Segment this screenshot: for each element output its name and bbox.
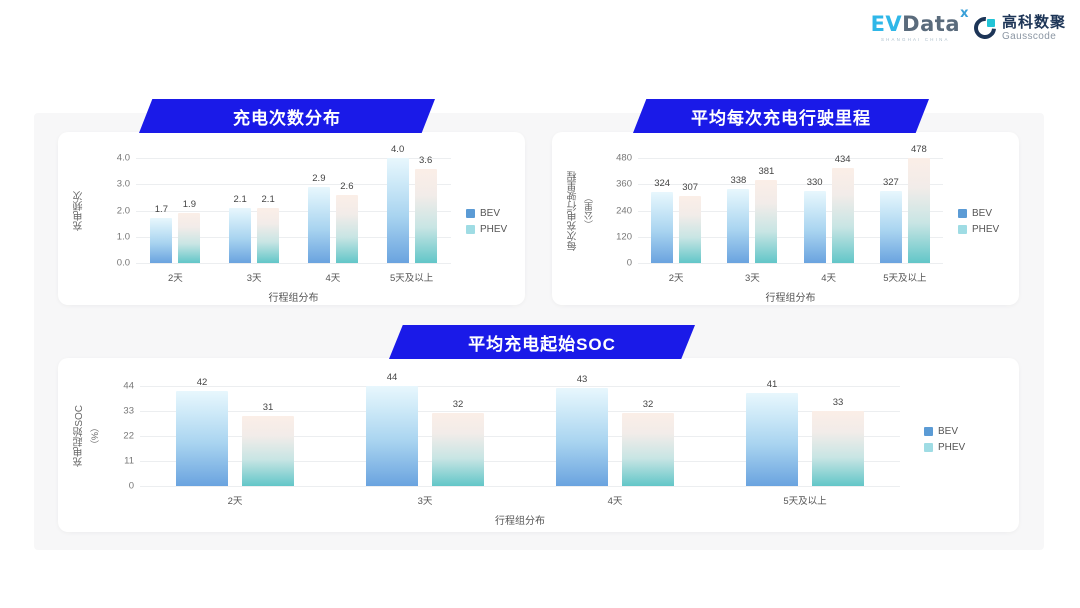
bar-bev-3 bbox=[746, 393, 798, 486]
y-axis-tick: 44 bbox=[123, 381, 134, 392]
chart-legend: BEVPHEV bbox=[958, 208, 999, 240]
bar-phev-0 bbox=[242, 416, 294, 486]
bar-value-label: 2.6 bbox=[340, 181, 353, 192]
x-axis-tick: 2天 bbox=[669, 270, 684, 284]
brand-logo-bar: EVData x SHANGHAI CHINA 高科数聚 Gausscode bbox=[871, 14, 1066, 42]
legend-swatch-bev-icon bbox=[924, 427, 933, 436]
evdata-logo: EVData x SHANGHAI CHINA bbox=[871, 14, 960, 42]
legend-label-bev: BEV bbox=[938, 426, 958, 437]
y-axis-tick: 1.0 bbox=[117, 231, 130, 242]
bar-phev-3 bbox=[908, 158, 930, 263]
x-axis-label: 行程组分布 bbox=[766, 289, 816, 304]
bar-phev-1 bbox=[432, 413, 484, 486]
plot-area: 01202403604803243072天3383813天3304344天327… bbox=[638, 158, 943, 263]
evdata-data-text: Data bbox=[902, 12, 960, 36]
legend-swatch-bev-icon bbox=[958, 209, 967, 218]
bar-phev-3 bbox=[415, 169, 437, 264]
legend-label-bev: BEV bbox=[480, 208, 500, 219]
bar-value-label: 31 bbox=[263, 402, 274, 413]
legend-item-bev[interactable]: BEV bbox=[958, 208, 999, 219]
gridline bbox=[140, 486, 900, 487]
y-axis-tick: 360 bbox=[616, 179, 632, 190]
bar-phev-0 bbox=[679, 196, 701, 263]
bar-phev-2 bbox=[832, 168, 854, 263]
bar-value-label: 3.6 bbox=[419, 155, 432, 166]
y-axis-tick: 11 bbox=[124, 456, 134, 467]
bar-phev-2 bbox=[622, 413, 674, 486]
bar-value-label: 32 bbox=[453, 399, 464, 410]
legend-item-bev[interactable]: BEV bbox=[466, 208, 507, 219]
bar-value-label: 2.1 bbox=[262, 194, 275, 205]
chart-card-start-soc: 充电起始SOC（%）01122334442312天44323天43324天413… bbox=[58, 358, 1019, 532]
y-axis-tick: 22 bbox=[123, 431, 134, 442]
x-axis-tick: 5天及以上 bbox=[883, 270, 926, 284]
legend-item-phev[interactable]: PHEV bbox=[466, 224, 507, 235]
bar-value-label: 330 bbox=[807, 177, 823, 188]
bar-phev-0 bbox=[178, 213, 200, 263]
bar-value-label: 2.1 bbox=[234, 194, 247, 205]
y-axis-tick: 0.0 bbox=[117, 258, 130, 269]
evdata-tagline: SHANGHAI CHINA bbox=[881, 37, 950, 42]
legend-item-phev[interactable]: PHEV bbox=[958, 224, 999, 235]
y-axis-label-main: 充电频次 bbox=[72, 191, 87, 231]
legend-swatch-phev-icon bbox=[958, 225, 967, 234]
y-axis-tick: 120 bbox=[616, 231, 632, 242]
bar-value-label: 44 bbox=[387, 372, 398, 383]
legend-swatch-phev-icon bbox=[466, 225, 475, 234]
chart-legend: BEVPHEV bbox=[466, 208, 507, 240]
bar-bev-1 bbox=[727, 189, 749, 263]
bar-value-label: 338 bbox=[730, 175, 746, 186]
bar-phev-1 bbox=[257, 208, 279, 263]
y-axis-tick: 480 bbox=[616, 153, 632, 164]
gridline bbox=[638, 158, 943, 159]
bar-value-label: 327 bbox=[883, 177, 899, 188]
y-axis-tick: 33 bbox=[123, 406, 134, 417]
y-axis-label-main: 每次充电行驶里程 bbox=[566, 171, 581, 251]
gausscode-mark-icon bbox=[974, 17, 996, 39]
bar-value-label: 41 bbox=[767, 379, 778, 390]
bar-bev-3 bbox=[387, 158, 409, 263]
chart-legend: BEVPHEV bbox=[924, 426, 965, 458]
bar-value-label: 324 bbox=[654, 178, 670, 189]
x-axis-label: 行程组分布 bbox=[269, 289, 319, 304]
bar-value-label: 2.9 bbox=[312, 173, 325, 184]
chart-title-banner-2: 平均每次充电行驶里程 bbox=[633, 99, 929, 133]
bar-phev-2 bbox=[336, 195, 358, 263]
bar-bev-0 bbox=[651, 192, 673, 263]
bar-bev-3 bbox=[880, 191, 902, 263]
bar-value-label: 434 bbox=[835, 154, 851, 165]
chart-title-banner-3: 平均充电起始SOC bbox=[389, 325, 695, 359]
gridline bbox=[638, 263, 943, 264]
y-axis-label: 充电起始SOC（%） bbox=[72, 386, 101, 486]
chart-title-banner-1: 充电次数分布 bbox=[139, 99, 435, 133]
x-axis-tick: 3天 bbox=[745, 270, 760, 284]
evdata-wordmark: EVData x bbox=[871, 14, 960, 35]
legend-label-phev: PHEV bbox=[938, 442, 965, 453]
bar-bev-1 bbox=[229, 208, 251, 263]
gridline bbox=[136, 263, 451, 264]
bar-value-label: 1.9 bbox=[183, 199, 196, 210]
gridline bbox=[140, 386, 900, 387]
bar-value-label: 33 bbox=[833, 397, 844, 408]
legend-swatch-bev-icon bbox=[466, 209, 475, 218]
y-axis-tick: 4.0 bbox=[117, 153, 130, 164]
bar-bev-2 bbox=[804, 191, 826, 263]
legend-label-bev: BEV bbox=[972, 208, 992, 219]
bar-phev-3 bbox=[812, 411, 864, 486]
plot-area: 01122334442312天44323天43324天41335天及以上 bbox=[140, 386, 900, 486]
bar-value-label: 1.7 bbox=[155, 204, 168, 215]
evdata-ev-text: EV bbox=[871, 12, 903, 36]
y-axis-label-main: 充电起始SOC bbox=[72, 405, 87, 467]
bar-value-label: 43 bbox=[577, 374, 588, 385]
gausscode-logo: 高科数聚 Gausscode bbox=[974, 15, 1066, 42]
bar-bev-0 bbox=[176, 391, 228, 486]
x-axis-tick: 5天及以上 bbox=[390, 270, 433, 284]
bar-value-label: 307 bbox=[682, 182, 698, 193]
y-axis-label-unit: （%） bbox=[88, 423, 101, 449]
y-axis-tick: 0 bbox=[627, 258, 632, 269]
x-axis-tick: 4天 bbox=[608, 493, 623, 507]
bar-chart-mileage-per-charge: 每次充电行驶里程（公里）01202403604803243072天3383813… bbox=[552, 132, 1019, 305]
gausscode-en-name: Gausscode bbox=[1002, 32, 1066, 42]
y-axis-tick: 0 bbox=[129, 481, 134, 492]
gausscode-cn-name: 高科数聚 bbox=[1002, 15, 1066, 30]
legend-label-phev: PHEV bbox=[972, 224, 999, 235]
legend-item-bev[interactable]: BEV bbox=[924, 426, 965, 437]
legend-item-phev[interactable]: PHEV bbox=[924, 442, 965, 453]
y-axis-tick: 3.0 bbox=[117, 179, 130, 190]
bar-bev-2 bbox=[556, 388, 608, 486]
x-axis-tick: 4天 bbox=[325, 270, 340, 284]
x-axis-tick: 3天 bbox=[247, 270, 262, 284]
y-axis-tick: 2.0 bbox=[117, 205, 130, 216]
bar-bev-0 bbox=[150, 218, 172, 263]
bar-phev-1 bbox=[755, 180, 777, 263]
bar-value-label: 4.0 bbox=[391, 144, 404, 155]
x-axis-tick: 2天 bbox=[228, 493, 243, 507]
chart-card-mileage-per-charge: 每次充电行驶里程（公里）01202403604803243072天3383813… bbox=[552, 132, 1019, 305]
y-axis-label-unit: （公里） bbox=[582, 193, 595, 229]
x-axis-tick: 2天 bbox=[168, 270, 183, 284]
x-axis-tick: 4天 bbox=[821, 270, 836, 284]
bar-chart-charging-frequency: 充电频次0.01.02.03.04.01.71.92天2.12.13天2.92.… bbox=[58, 132, 525, 305]
chart-card-charging-frequency: 充电频次0.01.02.03.04.01.71.92天2.12.13天2.92.… bbox=[58, 132, 525, 305]
legend-label-phev: PHEV bbox=[480, 224, 507, 235]
bar-value-label: 32 bbox=[643, 399, 654, 410]
x-axis-tick: 5天及以上 bbox=[783, 493, 826, 507]
bar-bev-2 bbox=[308, 187, 330, 263]
y-axis-tick: 240 bbox=[616, 205, 632, 216]
bar-value-label: 478 bbox=[911, 144, 927, 155]
evdata-x-icon: x bbox=[960, 7, 969, 20]
plot-area: 0.01.02.03.04.01.71.92天2.12.13天2.92.64天4… bbox=[136, 158, 451, 263]
x-axis-label: 行程组分布 bbox=[495, 512, 545, 527]
legend-swatch-phev-icon bbox=[924, 443, 933, 452]
bar-bev-1 bbox=[366, 386, 418, 486]
bar-value-label: 42 bbox=[197, 377, 208, 388]
bar-chart-start-soc: 充电起始SOC（%）01122334442312天44323天43324天413… bbox=[58, 358, 1019, 532]
y-axis-label: 每次充电行驶里程（公里） bbox=[566, 158, 595, 263]
y-axis-label: 充电频次 bbox=[72, 158, 87, 263]
bar-value-label: 381 bbox=[758, 166, 774, 177]
x-axis-tick: 3天 bbox=[418, 493, 433, 507]
